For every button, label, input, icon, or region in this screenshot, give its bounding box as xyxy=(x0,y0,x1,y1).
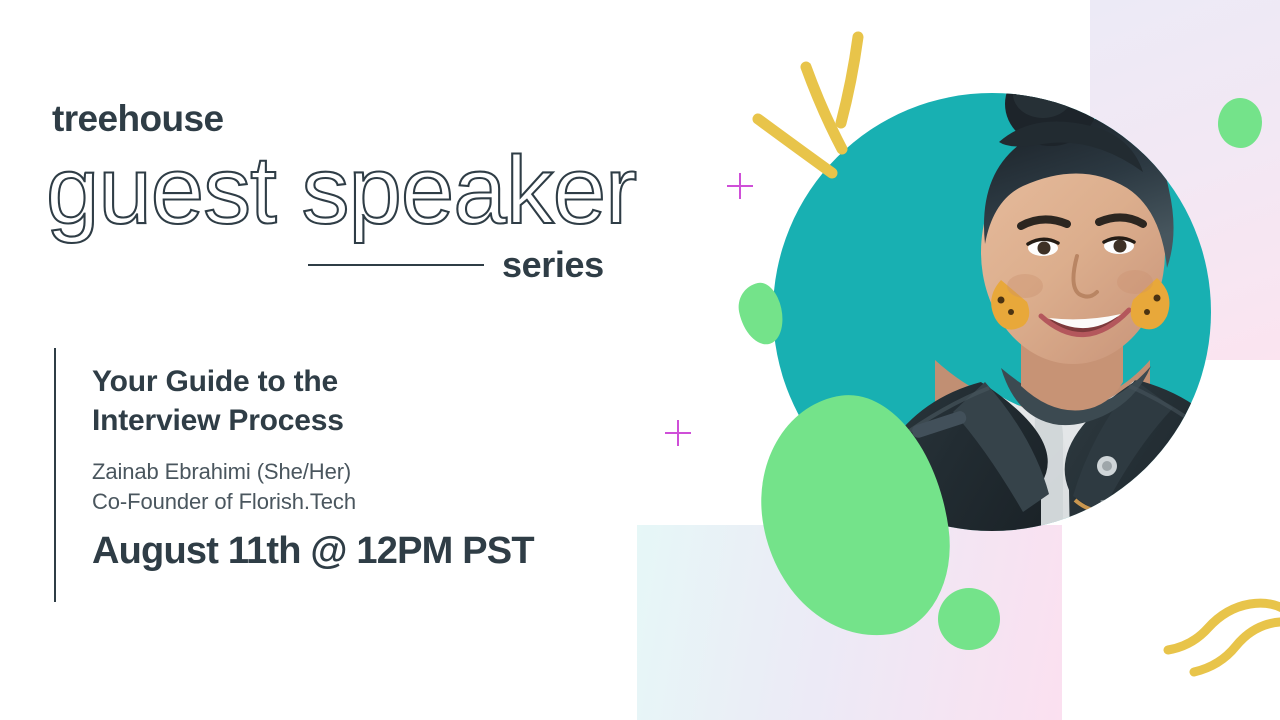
green-dot-bottom xyxy=(938,588,1000,650)
plus-vertical xyxy=(677,420,679,446)
yellow-swoosh-strokes xyxy=(1160,590,1280,685)
talk-title: Your Guide to the Interview Process xyxy=(92,362,632,441)
series-divider-rule xyxy=(308,264,484,266)
headline-block: treehouse guest speaker series xyxy=(50,100,650,283)
treehouse-wordmark: treehouse xyxy=(52,100,650,137)
guest-speaker-outline-text: guest speaker xyxy=(46,141,636,244)
vertical-accent-rule xyxy=(54,348,56,602)
event-detail-block: Your Guide to the Interview Process Zain… xyxy=(54,348,634,602)
promo-graphic: treehouse guest speaker series Your Guid… xyxy=(0,0,1280,720)
plus-mark-top xyxy=(727,173,753,199)
speaker-role: Co-Founder of Florish.Tech xyxy=(92,487,632,517)
speaker-name: Zainab Ebrahimi (She/Her) xyxy=(92,457,632,487)
guest-speaker-outline-title: guest speaker xyxy=(42,141,642,251)
event-datetime: August 11th @ 12PM PST xyxy=(92,531,632,573)
series-row: series xyxy=(50,247,628,283)
series-label: series xyxy=(502,247,604,283)
yellow-ray-strokes xyxy=(740,25,900,200)
event-detail-text: Your Guide to the Interview Process Zain… xyxy=(92,362,632,573)
plus-vertical xyxy=(739,173,741,199)
plus-mark-middle xyxy=(665,420,691,446)
